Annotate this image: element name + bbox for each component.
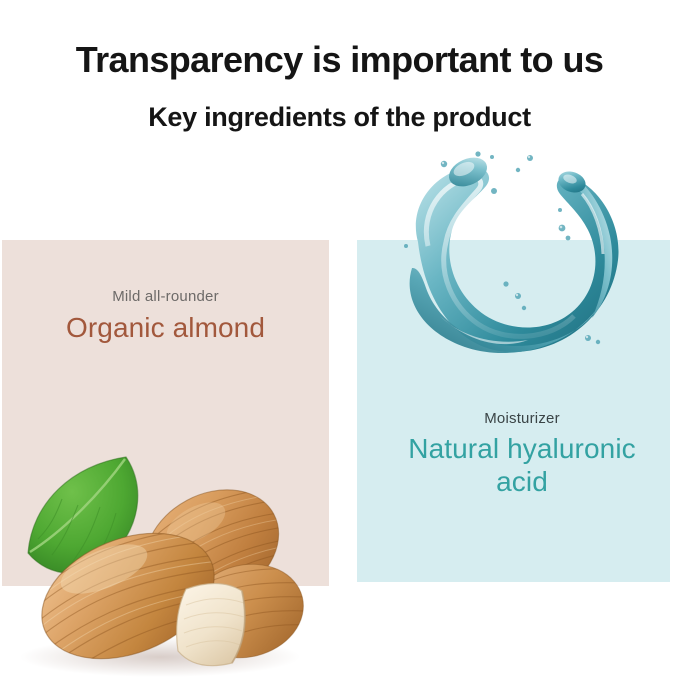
page-subtitle: Key ingredients of the product [0, 103, 679, 131]
splash-crest-left [444, 152, 491, 192]
page-title: Transparency is important to us [0, 41, 679, 79]
ingredient-caption-hyaluronic-acid: Moisturizer Natural hyaluronic acid [380, 410, 664, 498]
product-ingredients-infographic: Transparency is important to us Key ingr… [0, 0, 679, 679]
ingredient-caption-almond: Mild all-rounder Organic almond [25, 288, 306, 344]
ingredient-eyebrow-almond: Mild all-rounder [25, 288, 306, 306]
ingredient-title-hyaluronic-acid: Natural hyaluronic acid [380, 432, 664, 498]
almond-kernel-split [177, 583, 245, 665]
ingredient-title-almond: Organic almond [25, 311, 306, 344]
ingredient-eyebrow-hyaluronic-acid: Moisturizer [380, 410, 664, 428]
splash-crest-right [555, 168, 588, 196]
